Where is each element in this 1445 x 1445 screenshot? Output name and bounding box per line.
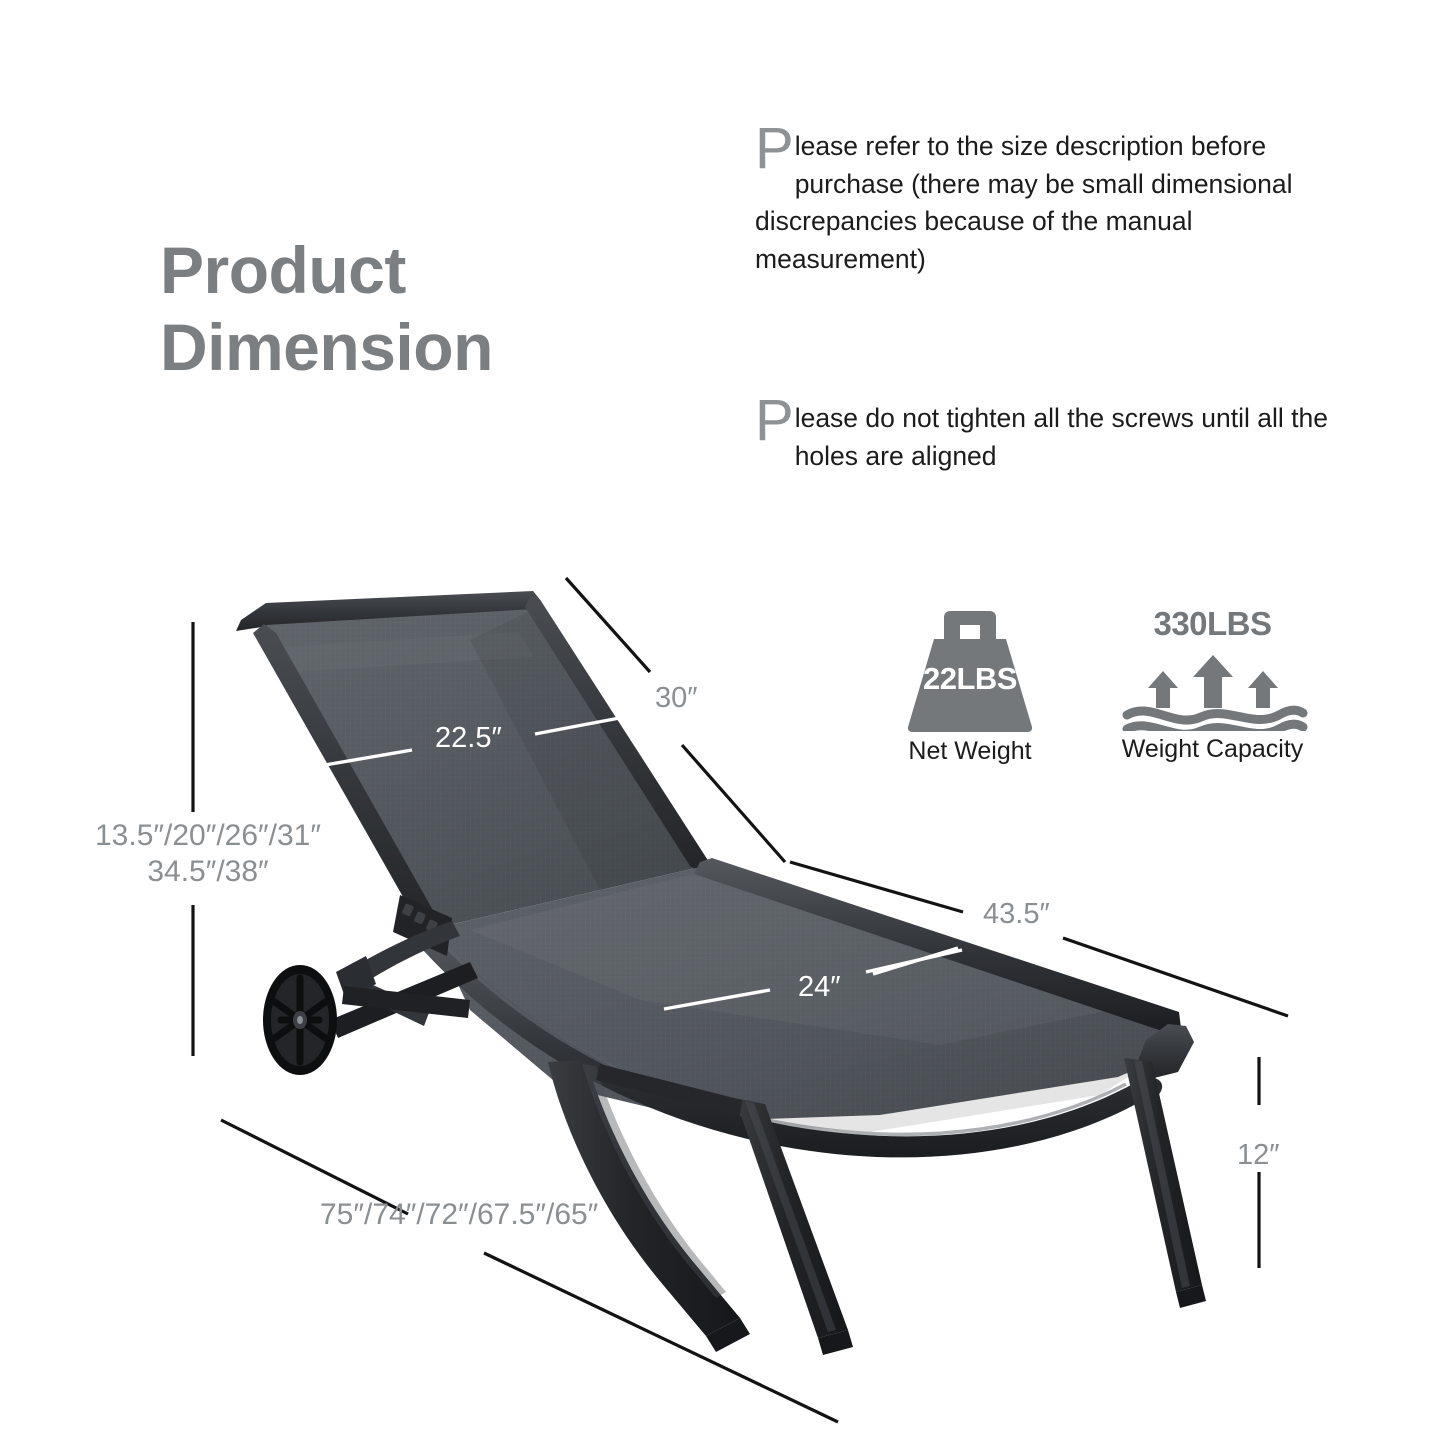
backrest-width-tick-right <box>535 716 630 734</box>
backrest-len-leader-upper <box>566 578 650 672</box>
seat-length-tick <box>873 948 958 974</box>
head-end-strut <box>342 986 470 1018</box>
page-title: Product Dimension <box>160 232 720 385</box>
front-curved-leg-cap <box>706 1318 750 1352</box>
note-text: lease do not tighten all the screws unti… <box>795 403 1328 471</box>
wave-line-bottom <box>1127 724 1303 731</box>
arrow-up-right <box>1248 671 1278 708</box>
backrest-width-tick-left <box>325 750 412 765</box>
seat-rail-end-cap <box>1128 1073 1166 1107</box>
backrest-len-leader-lower <box>682 745 785 862</box>
dim-label-backrest-length: 30″ <box>655 682 698 715</box>
arrow-up-left <box>1148 671 1178 708</box>
spec-badge-group: 22LBS Net Weight 330LBS Weight Capacity <box>870 605 1340 785</box>
backrest-frame-left-rail <box>236 591 541 631</box>
foot-leg-right-cap <box>1176 1285 1206 1308</box>
transport-wheel <box>263 965 337 1075</box>
seat-cross-brace <box>596 1064 742 1116</box>
recline-ratchet-bracket <box>393 895 452 956</box>
seat-frame-bottom-rail <box>414 929 1150 1157</box>
seat-foot-end-rail <box>1136 1024 1194 1079</box>
foot-leg-right <box>1124 1058 1202 1292</box>
ratchet-teeth <box>402 903 439 933</box>
weight-capacity-value: 330LBS <box>1085 605 1340 643</box>
dim-label-seat-height: 12″ <box>1237 1139 1280 1172</box>
seat-len-leader-right <box>1063 938 1288 1016</box>
overall-len-leader-lower <box>484 1253 838 1422</box>
weight-capacity-caption: Weight Capacity <box>1085 735 1340 764</box>
dim-label-height-adjustable: 13.5″/20″/26″/31″ 34.5″/38″ <box>78 818 338 890</box>
dim-label-overall-length: 75″/74″/72″/67.5″/65″ <box>320 1198 598 1232</box>
wave-line-top <box>1127 710 1303 720</box>
note-dropcap: P <box>755 126 794 171</box>
head-end-riser-front <box>336 956 376 1000</box>
note-screw-tightening: Please do not tighten all the screws unt… <box>755 400 1355 475</box>
foot-leg-left-cap <box>818 1330 853 1355</box>
foot-leg-left <box>735 1098 848 1338</box>
wheel-hub <box>293 1011 307 1029</box>
note-dropcap: P <box>755 398 794 443</box>
backrest-headrest-band <box>281 632 534 672</box>
net-weight-badge: 22LBS Net Weight <box>870 605 1070 766</box>
load-capacity-icon <box>1113 645 1313 731</box>
seat-width-tick-right <box>866 950 962 972</box>
arrow-up-middle <box>1193 655 1233 708</box>
dim-height-line-2: 34.5″/38″ <box>78 854 338 890</box>
backrest-frame-right-rail <box>525 591 709 872</box>
product-dimension-infographic: Product Dimension Please refer to the si… <box>0 0 1445 1445</box>
note-text: lease refer to the size description befo… <box>755 131 1293 274</box>
seat-len-leader-left <box>790 862 963 912</box>
weight-capacity-badge: 330LBS Weight Capacity <box>1085 605 1340 764</box>
net-weight-value: 22LBS <box>870 661 1070 697</box>
note-size-description: Please refer to the size description bef… <box>755 128 1355 279</box>
seat-frame-top-rail <box>694 858 1181 1033</box>
dim-label-backrest-width: 22.5″ <box>435 722 502 755</box>
net-weight-caption: Net Weight <box>870 737 1070 766</box>
dim-label-seat-width: 24″ <box>798 971 841 1004</box>
seat-width-tick-left <box>664 990 770 1009</box>
dim-height-line-1: 13.5″/20″/26″/31″ <box>78 818 338 854</box>
head-end-riser-loop <box>344 921 460 1026</box>
dim-label-seat-length: 43.5″ <box>983 898 1050 931</box>
head-end-lower-bar <box>330 962 478 1038</box>
white-measure-lines <box>325 716 962 1009</box>
